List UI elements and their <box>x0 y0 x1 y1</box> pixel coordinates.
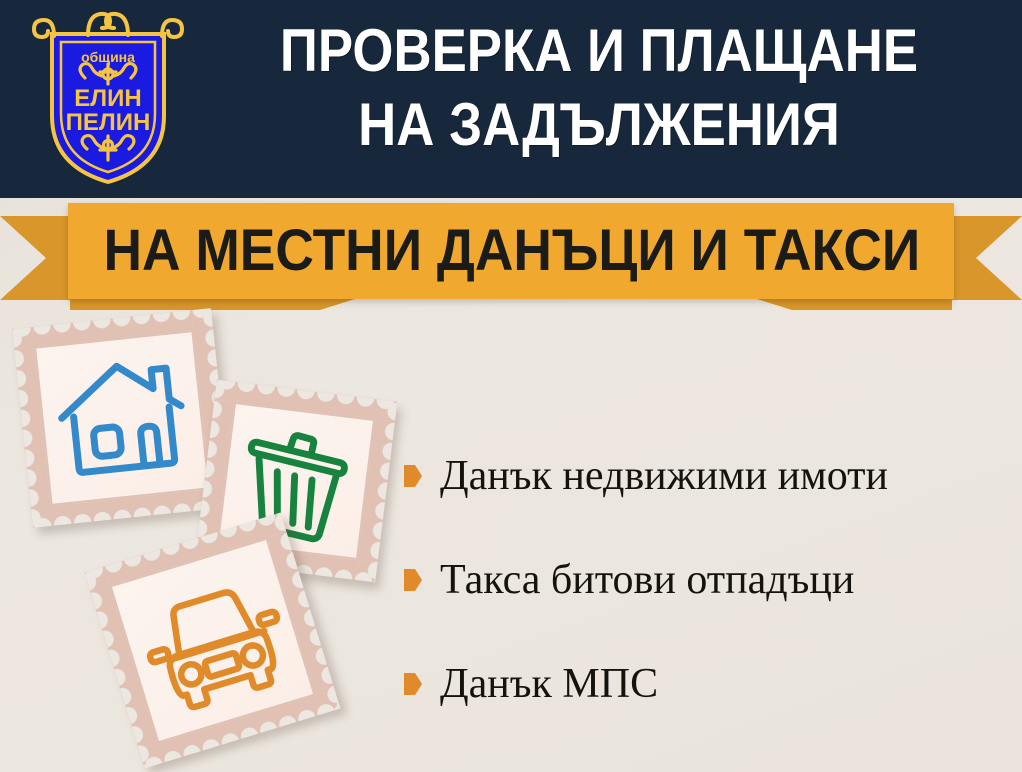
list-item[interactable]: Такса битови отпадъци <box>404 528 1014 632</box>
stamp-inner-car <box>112 540 313 741</box>
crest-name-line2: ПЕЛИН <box>66 109 151 136</box>
list-item[interactable]: Данък МПС <box>404 632 1014 736</box>
list-item-label: Такса битови отпадъци <box>440 556 854 604</box>
crest-name-line1: ЕЛИН <box>74 85 141 112</box>
ribbon-main-panel: НА МЕСТНИ ДАНЪЦИ И ТАКСИ <box>68 203 954 299</box>
tax-types-list: Данък недвижими имоти Такса битови отпад… <box>404 424 1014 736</box>
page-title: ПРОВЕРКА И ПЛАЩАНЕ НА ЗАДЪЛЖЕНИЯ <box>239 14 959 162</box>
ribbon-banner: НА МЕСТНИ ДАНЪЦИ И ТАКСИ <box>0 200 1022 305</box>
list-item-label: Данък МПС <box>440 660 658 708</box>
house-icon <box>36 332 207 503</box>
arrow-bullet-icon <box>404 465 422 487</box>
stamp-card-property <box>12 308 232 528</box>
arrow-bullet-icon <box>404 569 422 591</box>
ribbon-subtitle: НА МЕСТНИ ДАНЪЦИ И ТАКСИ <box>103 203 918 299</box>
municipality-crest-logo: община ЕЛИН ПЕЛИН <box>30 8 186 190</box>
car-front-icon <box>112 540 313 741</box>
stamp-inner-house <box>36 332 207 503</box>
arrow-bullet-icon <box>404 673 422 695</box>
list-item-label: Данък недвижими имоти <box>440 452 888 500</box>
poster-canvas: община ЕЛИН ПЕЛИН ПРОВЕРКА И ПЛАЩАНЕ НА … <box>0 0 1022 772</box>
list-item[interactable]: Данък недвижими имоти <box>404 424 1014 528</box>
